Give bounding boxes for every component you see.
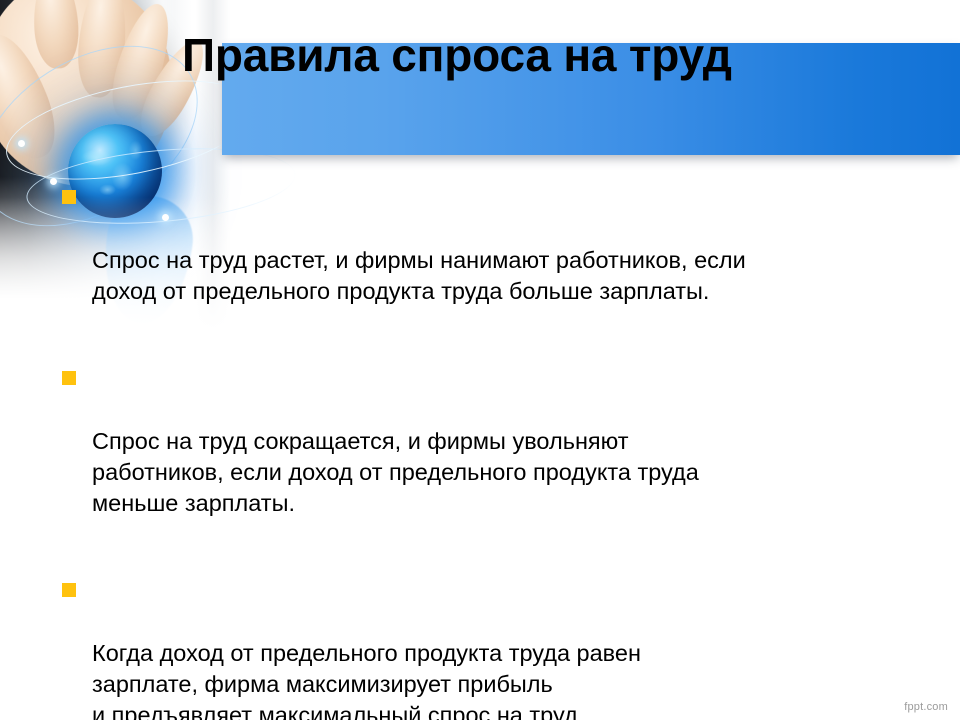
bullet-marker-icon xyxy=(62,583,76,597)
bullet-item: Когда доход от предельного продукта труд… xyxy=(56,575,926,720)
orbit-node xyxy=(18,140,25,147)
bullet-text: Спрос на труд сокращается, и фирмы уволь… xyxy=(92,428,699,517)
bullet-text: Когда доход от предельного продукта труд… xyxy=(92,640,641,720)
watermark-label: fppt.com xyxy=(904,701,948,713)
bullet-marker-icon xyxy=(62,190,76,204)
presentation-slide: Правила спроса на труд Спрос на труд рас… xyxy=(0,0,960,720)
slide-title: Правила спроса на труд xyxy=(182,30,862,82)
bullet-text: Спрос на труд растет, и фирмы нанимают р… xyxy=(92,247,746,304)
bullet-list: Спрос на труд растет, и фирмы нанимают р… xyxy=(56,182,926,720)
bullet-marker-icon xyxy=(62,371,76,385)
bullet-item: Спрос на труд растет, и фирмы нанимают р… xyxy=(56,182,926,307)
bullet-item: Спрос на труд сокращается, и фирмы уволь… xyxy=(56,363,926,519)
